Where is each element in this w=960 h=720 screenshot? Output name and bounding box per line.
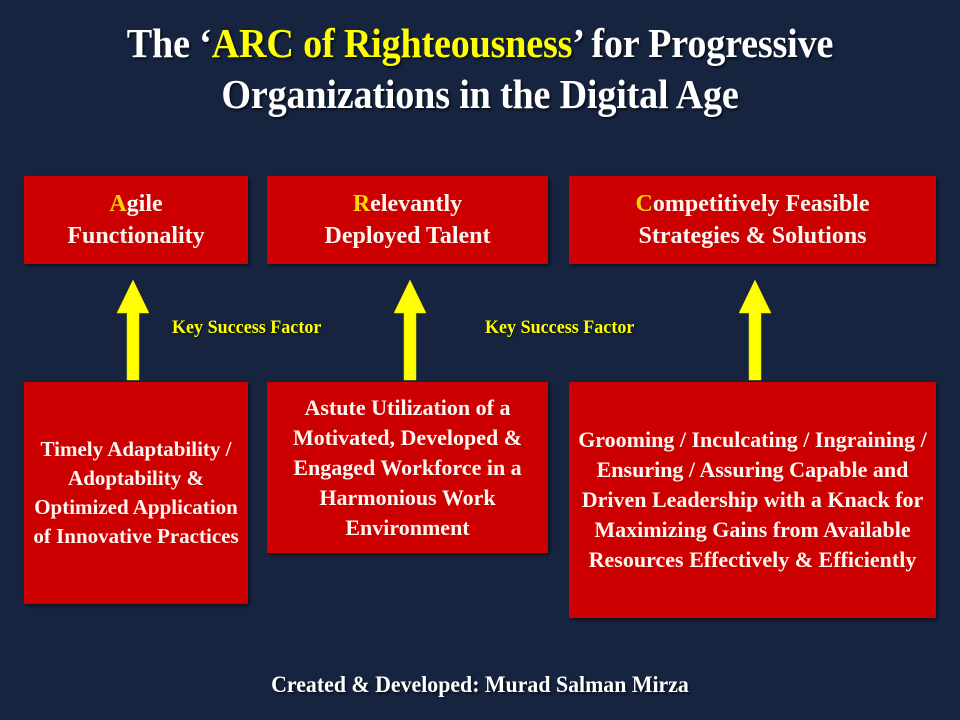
pillar-heading-line-1: ompetitively Feasible: [653, 191, 870, 217]
pillar-heading-line-2: Functionality: [67, 223, 204, 249]
pillar-detail-text: Grooming / Inculcating / Ingraining / En…: [569, 425, 936, 575]
pillar-detail-box-agile[interactable]: Timely Adaptability / Adoptability & Opt…: [24, 382, 248, 604]
pillar-heading-line-1: gile: [127, 191, 163, 217]
title-prefix: The ‘: [127, 20, 212, 66]
page-title-line-2: Organizations in the Digital Age: [34, 69, 927, 120]
connector-label-key-success-factor-1: Key Success Factor: [172, 317, 321, 339]
pillar-heading-text: Agile Functionality: [24, 188, 248, 252]
page-title-line-1: The ‘ARC of Righteousness’ for Progressi…: [34, 18, 927, 69]
pillar-heading-box-relevantly[interactable]: Relevantly Deployed Talent: [267, 176, 548, 264]
pillar-heading-box-competitively[interactable]: Competitively Feasible Strategies & Solu…: [569, 176, 936, 264]
pillar-heading-box-agile[interactable]: Agile Functionality: [24, 176, 248, 264]
pillar-heading-text: Relevantly Deployed Talent: [267, 188, 548, 252]
pillar-initial-letter: A: [109, 191, 126, 217]
pillar-detail-text: Astute Utilization of a Motivated, Devel…: [267, 393, 548, 543]
up-arrow-icon: [738, 279, 772, 381]
pillar-heading-line-1: elevantly: [370, 191, 462, 217]
up-arrow-icon: [116, 279, 150, 381]
pillar-heading-text: Competitively Feasible Strategies & Solu…: [569, 188, 936, 252]
pillar-detail-text: Timely Adaptability / Adoptability & Opt…: [24, 435, 248, 551]
pillar-heading-line-2: Strategies & Solutions: [639, 223, 867, 249]
title-suffix: ’ for Progressive: [572, 20, 833, 66]
up-arrow-icon: [393, 279, 427, 381]
title-highlight: ARC of Righteousness: [212, 20, 573, 66]
page-title: The ‘ARC of Righteousness’ for Progressi…: [34, 18, 927, 120]
pillar-heading-line-2: Deployed Talent: [324, 223, 490, 249]
author-credit: Created & Developed: Murad Salman Mirza: [24, 672, 936, 698]
pillar-initial-letter: C: [636, 191, 653, 217]
pillar-detail-box-relevantly[interactable]: Astute Utilization of a Motivated, Devel…: [267, 382, 548, 553]
pillar-initial-letter: R: [353, 191, 370, 217]
slide-canvas: The ‘ARC of Righteousness’ for Progressi…: [0, 0, 960, 720]
connector-label-key-success-factor-2: Key Success Factor: [485, 317, 634, 339]
pillar-detail-box-competitively[interactable]: Grooming / Inculcating / Ingraining / En…: [569, 382, 936, 618]
